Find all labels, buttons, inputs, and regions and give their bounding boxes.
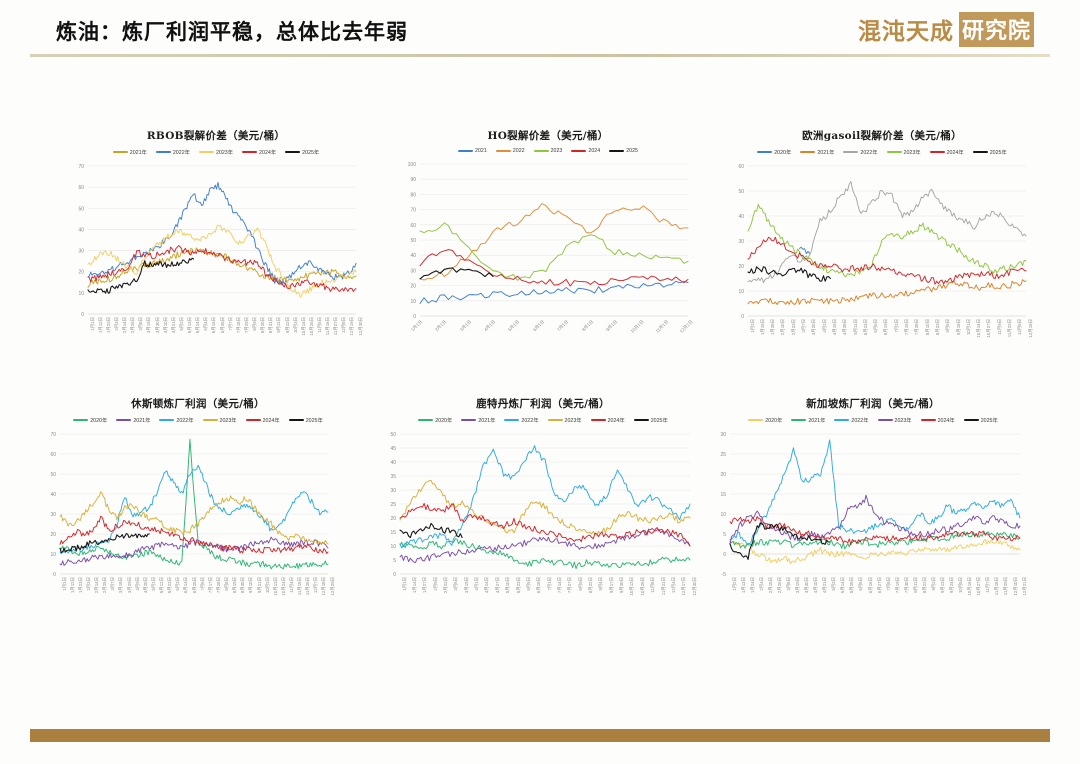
x-tick-label: 5月25日	[849, 577, 855, 593]
x-tick-label: 3月20日	[811, 319, 817, 335]
chart-title-ho-crack: HO裂解价差（美元/桶）	[398, 128, 698, 143]
svg-text:100: 100	[408, 162, 417, 168]
legend-label: 2022年	[173, 148, 190, 156]
x-tick-label: 12月5日	[1017, 319, 1023, 335]
x-tick-label: 10月3日	[293, 317, 299, 333]
svg-text:50: 50	[738, 189, 744, 195]
legend-item-2024[interactable]: 2024年	[591, 416, 625, 424]
x-tick-label: 9月11日	[276, 317, 282, 333]
legend-swatch-icon	[458, 150, 473, 152]
x-tick-label: 10月27日	[976, 577, 982, 596]
x-tick-label: 4月21日	[822, 577, 828, 593]
series-line-2020	[799, 247, 809, 253]
x-tick-label: 4月10日	[813, 577, 819, 593]
x-tick-label: 4月1日	[474, 577, 480, 591]
legend-swatch-icon	[418, 419, 433, 421]
series-line-2020	[60, 439, 328, 569]
legend-item-2022[interactable]: 2022年	[159, 416, 193, 424]
x-tick-label: 6月27日	[877, 577, 883, 593]
chart-houston-refinery-margin: 休斯顿炼厂利润（美元/桶）2020年2021年2022年2023年2024年20…	[38, 396, 358, 610]
legend-label: 2025年	[981, 416, 998, 424]
svg-text:50: 50	[78, 206, 84, 212]
legend-item-2025[interactable]: 2025年	[973, 148, 1007, 156]
x-tick-label: 3月7日	[110, 577, 116, 591]
legend-label: 2024年	[259, 148, 276, 156]
legend-item-2024[interactable]: 2024年	[921, 416, 955, 424]
svg-text:70: 70	[50, 432, 56, 438]
legend-item-2020[interactable]: 2020年	[418, 416, 452, 424]
svg-text:10: 10	[410, 299, 416, 305]
svg-text:40: 40	[78, 227, 84, 233]
x-tick-label: 5月10日	[505, 577, 511, 593]
svg-text:70: 70	[78, 164, 84, 170]
x-tick-label: 7月2日	[894, 319, 900, 333]
x-tick-label: 12月10日	[1013, 577, 1019, 596]
svg-text:20: 20	[410, 284, 416, 290]
svg-text:40: 40	[410, 253, 416, 259]
x-tick-label: 11月27日	[333, 317, 339, 335]
x-tick-label: 3月1日	[459, 319, 473, 333]
legend-swatch-icon	[571, 150, 586, 152]
chart-singapore-refinery-margin: 新加坡炼厂利润（美元/桶）2020年2021年2022年2023年2024年20…	[708, 396, 1038, 610]
x-tick-label: 5月24日	[863, 319, 869, 335]
legend-swatch-icon	[548, 419, 563, 421]
x-tick-label: 3月19日	[464, 577, 470, 593]
x-tick-label: 6月3日	[175, 577, 181, 591]
svg-text:20: 20	[78, 270, 84, 276]
legend-label: 2021年	[130, 148, 147, 156]
svg-text:60: 60	[410, 223, 416, 229]
legend-item-2023[interactable]: 2023年	[203, 416, 237, 424]
x-tick-label: 8月8日	[224, 577, 230, 591]
x-tick-label: 8月1日	[581, 319, 595, 333]
footer-bar	[30, 729, 1050, 742]
legend-item-2023[interactable]: 2023年	[548, 416, 582, 424]
svg-text:35: 35	[390, 474, 396, 480]
svg-text:5: 5	[723, 532, 726, 538]
x-axis-labels-houston-refinery-margin: 1月1日1月12日1月23日2月3日2月14日2月25日3月7日3月18日3月2…	[38, 576, 358, 610]
x-tick-label: 4月2日	[822, 319, 828, 333]
series-line-2020	[730, 539, 1020, 563]
legend-label: 2025年	[990, 148, 1007, 156]
legend-label: 2020年	[774, 148, 791, 156]
x-tick-label: 5月13日	[187, 317, 193, 333]
x-tick-label: 5月2日	[179, 317, 185, 331]
x-tick-label: 5月12日	[159, 577, 165, 593]
x-tick-label: 11月22日	[1007, 319, 1013, 337]
series-line-2025	[748, 267, 830, 281]
legend-item-2025[interactable]: 2025年	[634, 416, 668, 424]
x-tick-label: 2月3日	[86, 577, 92, 591]
legend-item-2024[interactable]: 2024年	[930, 148, 964, 156]
x-tick-label: 3月7日	[801, 319, 807, 333]
legend-swatch-icon	[930, 151, 945, 153]
x-tick-label: 7月27日	[567, 577, 573, 593]
x-tick-label: 12月29日	[330, 577, 336, 596]
svg-text:90: 90	[410, 177, 416, 183]
x-tick-label: 8月31日	[268, 317, 274, 333]
svg-text:30: 30	[390, 488, 396, 494]
x-tick-label: 5月1日	[151, 577, 157, 591]
legend-item-2021[interactable]: 2021年	[791, 416, 825, 424]
chart-eu-gasoil-crack: 欧洲gasoil裂解价差（美元/桶）2020年2021年2022年2023年20…	[726, 128, 1038, 352]
x-tick-label: 11月29日	[1003, 577, 1009, 595]
plot-area-singapore-refinery-margin: -50510152025301月2日1月13日1月24日2月4日2月15日2月2…	[708, 428, 1038, 610]
legend-swatch-icon	[591, 419, 606, 421]
x-tick-label: 9月5日	[945, 319, 951, 333]
x-tick-label: 11月18日	[994, 577, 1000, 595]
x-tick-label: 6月18日	[536, 577, 542, 593]
x-tick-label: 1月28日	[770, 319, 776, 335]
x-tick-label: 7月7日	[228, 317, 234, 331]
x-tick-label: 5月23日	[167, 577, 173, 593]
x-tick-label: 10月13日	[629, 577, 635, 596]
legend-label: 2023年	[216, 148, 233, 156]
legend-label: 2024年	[263, 416, 280, 424]
x-tick-label: 1月27日	[422, 577, 428, 593]
legend-label: 2025年	[306, 416, 323, 424]
svg-text:30: 30	[410, 268, 416, 274]
x-tick-label: 10月27日	[986, 319, 992, 338]
legend-swatch-icon	[634, 419, 649, 421]
x-tick-label: 3月8日	[786, 577, 792, 591]
x-tick-label: 3月30日	[155, 317, 161, 333]
svg-text:15: 15	[390, 530, 396, 536]
legend-label: 2021年	[808, 416, 825, 424]
x-tick-label: 6月4日	[203, 317, 209, 331]
x-tick-label: 8月11日	[913, 577, 919, 593]
x-tick-label: 11月8日	[650, 577, 656, 593]
svg-text:60: 60	[50, 452, 56, 458]
legend-item-2020[interactable]: 2020年	[757, 148, 791, 156]
x-tick-label: 11月21日	[661, 577, 667, 595]
x-tick-label: 10月1日	[966, 319, 972, 335]
x-tick-label: 7月28日	[914, 319, 920, 335]
x-tick-label: 3月30日	[804, 577, 810, 593]
svg-text:10: 10	[78, 291, 84, 297]
series-line-2025	[420, 268, 493, 279]
legend-item-2023[interactable]: 2023	[534, 148, 563, 154]
svg-text:30: 30	[78, 249, 84, 255]
legend-swatch-icon	[285, 151, 300, 153]
x-axis-labels-singapore-refinery-margin: 1月2日1月13日1月24日2月4日2月15日2月26日3月8日3月19日3月3…	[708, 576, 1038, 610]
x-tick-label: 10月1日	[630, 319, 646, 335]
legend-label: 2023年	[895, 416, 912, 424]
svg-text:45: 45	[390, 446, 396, 452]
legend-swatch-icon	[159, 419, 174, 421]
x-tick-label: 9月13日	[940, 577, 946, 593]
x-tick-label: 7月1日	[547, 577, 553, 591]
legend-label: 2024年	[608, 416, 625, 424]
legend-swatch-icon	[791, 419, 806, 421]
x-tick-label: 1月12日	[98, 317, 104, 333]
x-tick-label: 5月3日	[831, 577, 837, 591]
x-tick-label: 5月11日	[853, 319, 859, 335]
legend-item-2021[interactable]: 2021年	[461, 416, 495, 424]
legend-label: 2022年	[521, 416, 538, 424]
svg-text:80: 80	[410, 192, 416, 198]
x-tick-label: 5月14日	[840, 577, 846, 593]
svg-text:40: 40	[390, 460, 396, 466]
legend-swatch-icon	[246, 419, 261, 421]
legend-item-2021[interactable]: 2021年	[800, 148, 834, 156]
legend-item-2023[interactable]: 2023年	[887, 148, 921, 156]
legend-item-2024[interactable]: 2024年	[242, 148, 276, 156]
x-tick-label: 11月9日	[997, 319, 1003, 335]
x-tick-label: 1月13日	[741, 577, 747, 593]
legend-item-2023[interactable]: 2023年	[199, 148, 233, 156]
legend-swatch-icon	[242, 151, 257, 153]
x-tick-label: 2月1日	[434, 319, 448, 333]
legend-item-2025[interactable]: 2025年	[285, 148, 319, 156]
x-tick-label: 6月19日	[883, 319, 889, 335]
x-tick-label: 2月25日	[130, 317, 136, 333]
legend-item-2022[interactable]: 2022年	[843, 148, 877, 156]
series-line-2022	[730, 440, 1020, 545]
x-axis-labels-rotterdam-refinery-margin: 1月1日1月14日1月27日2月9日2月22日3月6日3月19日4月1日4月14…	[378, 576, 708, 610]
x-tick-label: 8月22日	[922, 577, 928, 593]
x-tick-label: 12月21日	[1022, 577, 1028, 596]
series-line-2022	[88, 182, 356, 284]
legend-item-2022[interactable]: 2022	[496, 148, 525, 154]
x-tick-label: 7月28日	[216, 577, 222, 593]
svg-text:10: 10	[738, 289, 744, 295]
x-tick-label: 4月15日	[832, 319, 838, 335]
x-tick-label: 10月14日	[301, 317, 307, 336]
x-axis-labels-rbob-crack: 1月1日1月12日1月23日2月3日2月14日2月25日3月8日3月19日3月3…	[66, 316, 366, 350]
legend-label: 2022	[513, 148, 525, 154]
legend-item-2025[interactable]: 2025	[609, 148, 638, 154]
x-tick-label: 9月10日	[248, 577, 254, 593]
legend-label: 2021年	[478, 416, 495, 424]
svg-text:10: 10	[390, 544, 396, 550]
x-tick-label: 10月26日	[640, 577, 646, 596]
x-tick-label: 12月30日	[692, 577, 698, 596]
x-tick-label: 7月8日	[886, 577, 892, 591]
legend-item-2024[interactable]: 2024	[571, 148, 600, 154]
chart-legend-eu-gasoil-crack: 2020年2021年2022年2023年2024年2025年	[726, 148, 1038, 156]
legend-label: 2021年	[817, 148, 834, 156]
svg-text:20: 20	[390, 516, 396, 522]
svg-text:25: 25	[390, 502, 396, 508]
legend-label: 2022年	[860, 148, 877, 156]
series-line-2023	[400, 480, 690, 534]
x-tick-label: 9月4日	[598, 577, 604, 591]
logo-text: 混沌天成	[858, 12, 954, 46]
chart-ho-crack: HO裂解价差（美元/桶）2021202220232024202501020304…	[398, 128, 698, 352]
plot-area-houston-refinery-margin: 0102030405060701月1日1月12日1月23日2月3日2月14日2月…	[38, 428, 358, 610]
x-tick-label: 1月2日	[750, 319, 756, 333]
chart-title-singapore-refinery-margin: 新加坡炼厂利润（美元/桶）	[708, 396, 1038, 411]
legend-label: 2021	[475, 148, 487, 154]
x-tick-label: 6月14日	[183, 577, 189, 593]
svg-text:0: 0	[723, 552, 726, 558]
x-tick-label: 7月18日	[236, 317, 242, 333]
x-tick-label: 12月18日	[1028, 319, 1034, 338]
legend-swatch-icon	[199, 151, 214, 153]
x-tick-label: 9月1日	[605, 319, 619, 333]
x-tick-label: 8月30日	[240, 577, 246, 593]
x-tick-label: 11月1日	[654, 319, 669, 334]
svg-text:20: 20	[50, 532, 56, 538]
x-tick-label: 9月24日	[949, 577, 955, 593]
x-tick-label: 7月1日	[556, 319, 570, 333]
x-tick-label: 5月24日	[195, 317, 201, 333]
legend-item-2020[interactable]: 2020年	[748, 416, 782, 424]
legend-swatch-icon	[496, 150, 511, 152]
legend-item-2022[interactable]: 2022年	[156, 148, 190, 156]
legend-swatch-icon	[748, 419, 763, 421]
svg-text:50: 50	[390, 432, 396, 438]
svg-text:70: 70	[410, 208, 416, 214]
x-tick-label: 8月22日	[588, 577, 594, 593]
x-tick-label: 4月10日	[163, 317, 169, 333]
x-tick-label: 11月4日	[289, 577, 295, 593]
legend-item-2024[interactable]: 2024年	[246, 416, 280, 424]
legend-swatch-icon	[757, 151, 772, 153]
legend-swatch-icon	[534, 150, 549, 152]
svg-text:10: 10	[50, 552, 56, 558]
svg-text:20: 20	[720, 472, 726, 478]
legend-swatch-icon	[800, 151, 815, 153]
x-tick-label: 1月24日	[750, 577, 756, 593]
svg-text:30: 30	[738, 239, 744, 245]
legend-swatch-icon	[203, 419, 218, 421]
series-line-2022	[748, 182, 1026, 283]
page-title: 炼油：炼厂利润平稳，总体比去年弱	[56, 16, 408, 46]
x-tick-label: 2月22日	[443, 577, 449, 593]
x-tick-label: 4月1日	[483, 319, 497, 333]
legend-label: 2023	[551, 148, 563, 154]
svg-text:40: 40	[738, 214, 744, 220]
x-tick-label: 1月23日	[106, 317, 112, 333]
legend-item-2025[interactable]: 2025年	[964, 416, 998, 424]
svg-text:40: 40	[50, 492, 56, 498]
x-tick-label: 2月4日	[759, 577, 765, 591]
svg-text:20: 20	[738, 264, 744, 270]
legend-swatch-icon	[973, 151, 988, 153]
chart-title-houston-refinery-margin: 休斯顿炼厂利润（美元/桶）	[38, 396, 358, 411]
x-tick-label: 9月2日	[931, 577, 937, 591]
chart-rotterdam-refinery-margin: 鹿特丹炼厂利润（美元/桶）2020年2021年2022年2023年2024年20…	[378, 396, 708, 610]
legend-swatch-icon	[73, 419, 88, 421]
x-tick-label: 6月16日	[868, 577, 874, 593]
logo-badge: 研究院	[959, 12, 1034, 47]
legend-swatch-icon	[964, 419, 979, 421]
x-tick-label: 11月26日	[305, 577, 311, 595]
chart-legend-rbob-crack: 2021年2022年2023年2024年2025年	[66, 148, 366, 156]
x-tick-label: 2月3日	[114, 317, 120, 331]
x-tick-label: 7月6日	[200, 577, 206, 591]
x-tick-label: 6月5日	[526, 577, 532, 591]
chart-title-rbob-crack: RBOB裂解价差（美元/桶）	[66, 128, 366, 143]
x-tick-label: 11月5日	[317, 317, 323, 333]
x-tick-label: 8月10日	[925, 319, 931, 335]
x-tick-label: 12月4日	[671, 577, 677, 593]
legend-swatch-icon	[921, 419, 936, 421]
svg-text:50: 50	[410, 238, 416, 244]
x-tick-label: 10月14日	[976, 319, 982, 338]
x-tick-label: 4月27日	[495, 577, 501, 593]
legend-item-2021[interactable]: 2021	[458, 148, 487, 154]
x-tick-label: 11月7日	[985, 577, 991, 593]
series-line-2020	[400, 539, 690, 569]
x-tick-label: 9月21日	[257, 577, 263, 593]
x-tick-label: 1月1日	[410, 319, 424, 333]
x-tick-label: 9月22日	[285, 317, 291, 333]
x-tick-label: 3月19日	[795, 577, 801, 593]
x-tick-label: 1月15日	[760, 319, 766, 335]
brand-logo: 混沌天成 研究院	[858, 12, 1034, 46]
x-tick-label: 11月16日	[325, 317, 331, 335]
x-tick-label: 1月1日	[62, 577, 68, 591]
legend-item-2022[interactable]: 2022年	[504, 416, 538, 424]
plot-area-rbob-crack: 0102030405060701月1日1月12日1月23日2月3日2月14日2月…	[66, 160, 366, 350]
x-tick-label: 1月2日	[732, 577, 738, 591]
legend-item-2020[interactable]: 2020年	[73, 416, 107, 424]
x-tick-label: 7月17日	[208, 577, 214, 593]
legend-swatch-icon	[289, 419, 304, 421]
svg-text:60: 60	[78, 185, 84, 191]
series-line-2023	[420, 223, 688, 280]
x-tick-label: 6月6日	[873, 319, 879, 333]
legend-label: 2020年	[435, 416, 452, 424]
legend-label: 2023年	[220, 416, 237, 424]
chart-title-rotterdam-refinery-margin: 鹿特丹炼厂利润（美元/桶）	[378, 396, 708, 411]
legend-label: 2023年	[904, 148, 921, 156]
x-tick-label: 12月8日	[341, 317, 347, 333]
legend-item-2022[interactable]: 2022年	[834, 416, 868, 424]
legend-item-2023[interactable]: 2023年	[878, 416, 912, 424]
x-tick-label: 6月26日	[220, 317, 226, 333]
legend-swatch-icon	[461, 419, 476, 421]
x-tick-label: 10月25日	[309, 317, 315, 336]
x-tick-label: 10月2日	[265, 577, 271, 593]
x-tick-label: 7月29日	[244, 317, 250, 333]
svg-text:60: 60	[738, 164, 744, 170]
x-tick-label: 4月28日	[842, 319, 848, 335]
legend-swatch-icon	[887, 151, 902, 153]
x-tick-label: 8月19日	[232, 577, 238, 593]
x-tick-label: 1月1日	[90, 317, 96, 331]
legend-swatch-icon	[609, 150, 624, 152]
series-line-2023	[730, 495, 1020, 544]
chart-legend-ho-crack: 20212022202320242025	[398, 148, 698, 154]
legend-label: 2025年	[651, 416, 668, 424]
legend-label: 2022年	[176, 416, 193, 424]
legend-item-2021[interactable]: 2021年	[113, 148, 147, 156]
legend-swatch-icon	[834, 419, 849, 421]
slide-header: 炼油：炼厂利润平稳，总体比去年弱 混沌天成 研究院	[0, 0, 1080, 58]
x-tick-label: 3月29日	[127, 577, 133, 593]
legend-label: 2024年	[938, 416, 955, 424]
legend-item-2021[interactable]: 2021年	[116, 416, 150, 424]
legend-swatch-icon	[116, 419, 131, 421]
svg-text:15: 15	[720, 492, 726, 498]
x-tick-label: 12月7日	[313, 577, 319, 593]
svg-text:30: 30	[50, 512, 56, 518]
x-tick-label: 8月9日	[578, 577, 584, 591]
x-tick-label: 6月25日	[192, 577, 198, 593]
x-tick-label: 9月18日	[956, 319, 962, 335]
legend-label: 2020年	[90, 416, 107, 424]
legend-label: 2024	[588, 148, 600, 154]
svg-text:10: 10	[720, 512, 726, 518]
x-tick-label: 7月30日	[904, 577, 910, 593]
legend-label: 2022年	[851, 416, 868, 424]
x-tick-label: 7月15日	[904, 319, 910, 335]
legend-item-2025[interactable]: 2025年	[289, 416, 323, 424]
